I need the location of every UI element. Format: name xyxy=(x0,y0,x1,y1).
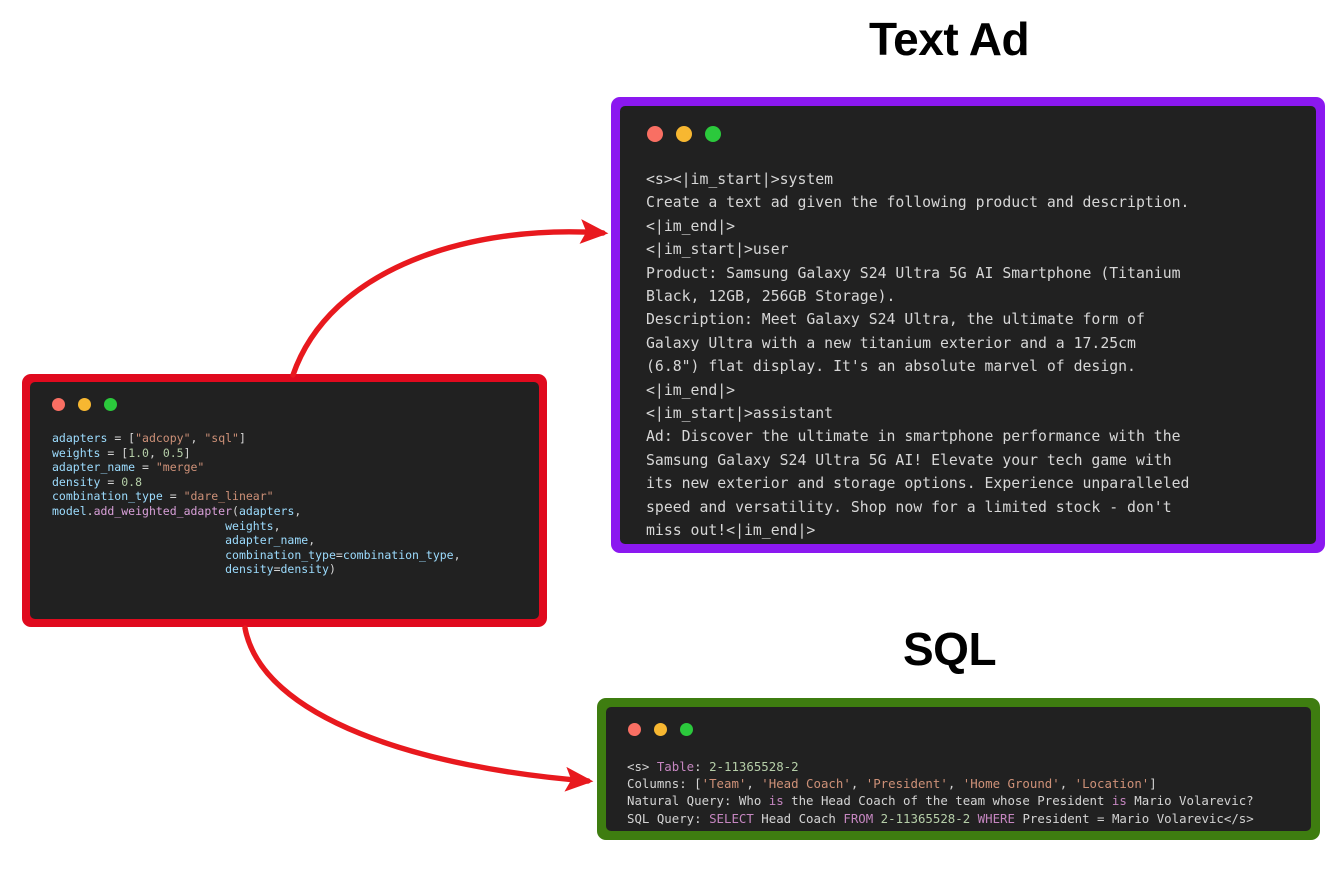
code-token: , xyxy=(1060,776,1075,791)
code-token xyxy=(873,811,880,826)
code-token: = xyxy=(107,431,128,445)
window-controls xyxy=(620,106,1316,142)
code-token: weights xyxy=(52,446,100,460)
code-token: combination_type xyxy=(343,548,454,562)
code-token: FROM xyxy=(843,811,873,826)
code-token: is xyxy=(1112,793,1127,808)
code-token: = xyxy=(135,460,156,474)
code-token: WHERE xyxy=(978,811,1015,826)
code-token: adapters xyxy=(52,431,107,445)
terminal-body: adapters = ["adcopy", "sql"] weights = [… xyxy=(30,382,539,619)
code-token: , xyxy=(191,431,205,445)
text-ad-prompt-text: <s><|im_start|>system Create a text ad g… xyxy=(646,168,1316,543)
code-token: model xyxy=(52,504,87,518)
code-token: , xyxy=(294,504,301,518)
code-token: Table xyxy=(657,759,694,774)
code-token: Mario Volarevic? xyxy=(1127,793,1254,808)
close-button-dot[interactable] xyxy=(52,398,65,411)
code-token: 'Team' xyxy=(702,776,747,791)
code-token: ] xyxy=(184,446,191,460)
code-token: 'Head Coach' xyxy=(761,776,851,791)
code-token xyxy=(52,519,225,533)
code-token: 'Home Ground' xyxy=(963,776,1060,791)
code-token: = xyxy=(163,489,184,503)
minimize-button-dot[interactable] xyxy=(676,126,692,142)
code-token: "merge" xyxy=(156,460,204,474)
code-token: 'President' xyxy=(866,776,948,791)
merge-code-text: adapters = ["adcopy", "sql"] weights = [… xyxy=(52,431,539,577)
window-controls xyxy=(30,382,539,411)
code-token: = xyxy=(274,562,281,576)
code-token: adapters xyxy=(239,504,294,518)
code-token: ] xyxy=(239,431,246,445)
code-token: Columns: [ xyxy=(627,776,702,791)
code-token: "sql" xyxy=(204,431,239,445)
code-token xyxy=(52,562,225,576)
code-token: ] xyxy=(1149,776,1156,791)
code-token: = xyxy=(100,475,121,489)
code-token: President = Mario Volarevic</s> xyxy=(1015,811,1254,826)
code-token: 0.5 xyxy=(163,446,184,460)
code-token: 2-11365528-2 xyxy=(709,759,799,774)
code-token: density xyxy=(281,562,329,576)
heading-text-ad: Text Ad xyxy=(869,12,1029,66)
code-token: ( xyxy=(232,504,239,518)
code-token: "dare_linear" xyxy=(184,489,274,503)
heading-sql: SQL xyxy=(903,622,996,676)
minimize-button-dot[interactable] xyxy=(78,398,91,411)
code-token: , xyxy=(851,776,866,791)
code-token xyxy=(970,811,977,826)
code-token: <s> xyxy=(627,759,657,774)
maximize-button-dot[interactable] xyxy=(104,398,117,411)
code-token: , xyxy=(308,533,315,547)
code-token: , xyxy=(149,446,163,460)
code-token: ) xyxy=(329,562,336,576)
code-token: . xyxy=(87,504,94,518)
code-token: "adcopy" xyxy=(135,431,190,445)
close-button-dot[interactable] xyxy=(628,723,641,736)
code-token xyxy=(52,548,225,562)
sql-terminal: <s> Table: 2-11365528-2 Columns: ['Team'… xyxy=(597,698,1320,840)
code-token: add_weighted_adapter xyxy=(94,504,232,518)
code-token: density xyxy=(225,562,273,576)
code-token: Natural Query: Who xyxy=(627,793,769,808)
code-token: , xyxy=(454,548,461,562)
code-token: , xyxy=(746,776,761,791)
code-token: density xyxy=(52,475,100,489)
code-token: : xyxy=(694,759,709,774)
code-token: 1.0 xyxy=(128,446,149,460)
code-token: SQL Query: xyxy=(627,811,709,826)
maximize-button-dot[interactable] xyxy=(680,723,693,736)
code-token: combination_type xyxy=(52,489,163,503)
merge-code-terminal: adapters = ["adcopy", "sql"] weights = [… xyxy=(22,374,547,627)
window-controls xyxy=(606,707,1311,736)
code-token: 0.8 xyxy=(121,475,142,489)
code-token: combination_type xyxy=(225,548,336,562)
minimize-button-dot[interactable] xyxy=(654,723,667,736)
code-token: the Head Coach of the team whose Preside… xyxy=(784,793,1112,808)
arrow-merge-to-sql xyxy=(245,628,588,781)
code-token: adapter_name xyxy=(52,460,135,474)
code-token: = xyxy=(100,446,121,460)
diagram-canvas: Text Ad SQL adapters = ["adcopy", "sql"]… xyxy=(0,0,1327,869)
code-token: , xyxy=(274,519,281,533)
code-token xyxy=(52,533,225,547)
terminal-body: <s><|im_start|>system Create a text ad g… xyxy=(620,106,1316,544)
code-token: = xyxy=(336,548,343,562)
code-token: is xyxy=(769,793,784,808)
terminal-body: <s> Table: 2-11365528-2 Columns: ['Team'… xyxy=(606,707,1311,831)
sql-prompt-text: <s> Table: 2-11365528-2 Columns: ['Team'… xyxy=(627,758,1311,827)
code-token: adapter_name xyxy=(225,533,308,547)
code-token: 2-11365528-2 xyxy=(881,811,971,826)
code-token: , xyxy=(948,776,963,791)
code-token: SELECT xyxy=(709,811,754,826)
code-token: Head Coach xyxy=(754,811,844,826)
text-ad-terminal: <s><|im_start|>system Create a text ad g… xyxy=(611,97,1325,553)
close-button-dot[interactable] xyxy=(647,126,663,142)
arrow-merge-to-text-ad xyxy=(293,232,603,375)
code-token: weights xyxy=(225,519,273,533)
code-token: 'Location' xyxy=(1075,776,1150,791)
maximize-button-dot[interactable] xyxy=(705,126,721,142)
